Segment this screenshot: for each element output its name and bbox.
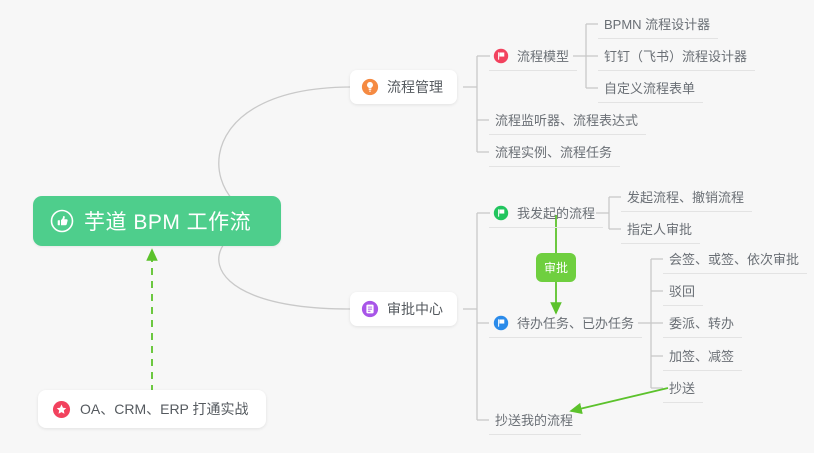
- leaf-cc[interactable]: 抄送: [663, 375, 703, 403]
- leaf-process-instance[interactable]: 流程实例、流程任务: [489, 139, 620, 167]
- node-my-initiated-process[interactable]: 我发起的流程: [489, 200, 603, 228]
- node-label-oa-crm-erp: OA、CRM、ERP 打通实战: [80, 399, 249, 419]
- node-label-my-initiated-process: 我发起的流程: [517, 203, 595, 222]
- leaf-reject[interactable]: 驳回: [663, 278, 703, 306]
- green-flag-icon: [493, 205, 509, 221]
- branch-label-approval-center: 审批中心: [387, 299, 443, 319]
- node-label-todo-done-tasks: 待办任务、已办任务: [517, 313, 634, 332]
- red-flag-icon: [493, 48, 509, 64]
- leaf-add-remove-sign[interactable]: 加签、减签: [663, 343, 742, 371]
- leaf-bpmn-designer[interactable]: BPMN 流程设计器: [598, 11, 718, 39]
- thumbs-up-icon: [50, 209, 74, 233]
- mindmap-canvas: 芋道 BPM 工作流 流程管理 流程模型 BPMN 流程设计器 钉钉（飞书）流程…: [0, 0, 814, 453]
- leaf-process-listener[interactable]: 流程监听器、流程表达式: [489, 107, 646, 135]
- root-label: 芋道 BPM 工作流: [84, 206, 251, 236]
- node-label-process-model: 流程模型: [517, 46, 569, 65]
- document-icon: [361, 300, 379, 318]
- leaf-custom-form[interactable]: 自定义流程表单: [598, 75, 703, 103]
- node-process-model[interactable]: 流程模型: [489, 43, 577, 71]
- branch-node-process-management[interactable]: 流程管理: [350, 70, 457, 104]
- leaf-dingtalk-designer[interactable]: 钉钉（飞书）流程设计器: [598, 43, 755, 71]
- leaf-countersign[interactable]: 会签、或签、依次审批: [663, 246, 807, 274]
- leaf-cc-my-process[interactable]: 抄送我的流程: [489, 407, 581, 435]
- node-todo-done-tasks[interactable]: 待办任务、已办任务: [489, 310, 642, 338]
- root-node[interactable]: 芋道 BPM 工作流: [33, 196, 281, 246]
- leaf-delegate-transfer[interactable]: 委派、转办: [663, 310, 742, 338]
- branch-label-process-management: 流程管理: [387, 77, 443, 97]
- lightbulb-icon: [361, 78, 379, 96]
- approval-badge-label: 审批: [544, 259, 568, 276]
- leaf-assignee-approval[interactable]: 指定人审批: [621, 216, 700, 244]
- star-icon: [52, 400, 71, 419]
- leaf-start-cancel-process[interactable]: 发起流程、撤销流程: [621, 184, 752, 212]
- blue-flag-icon: [493, 315, 509, 331]
- branch-node-approval-center[interactable]: 审批中心: [350, 292, 457, 326]
- node-oa-crm-erp[interactable]: OA、CRM、ERP 打通实战: [38, 390, 266, 428]
- approval-badge[interactable]: 审批: [536, 253, 576, 282]
